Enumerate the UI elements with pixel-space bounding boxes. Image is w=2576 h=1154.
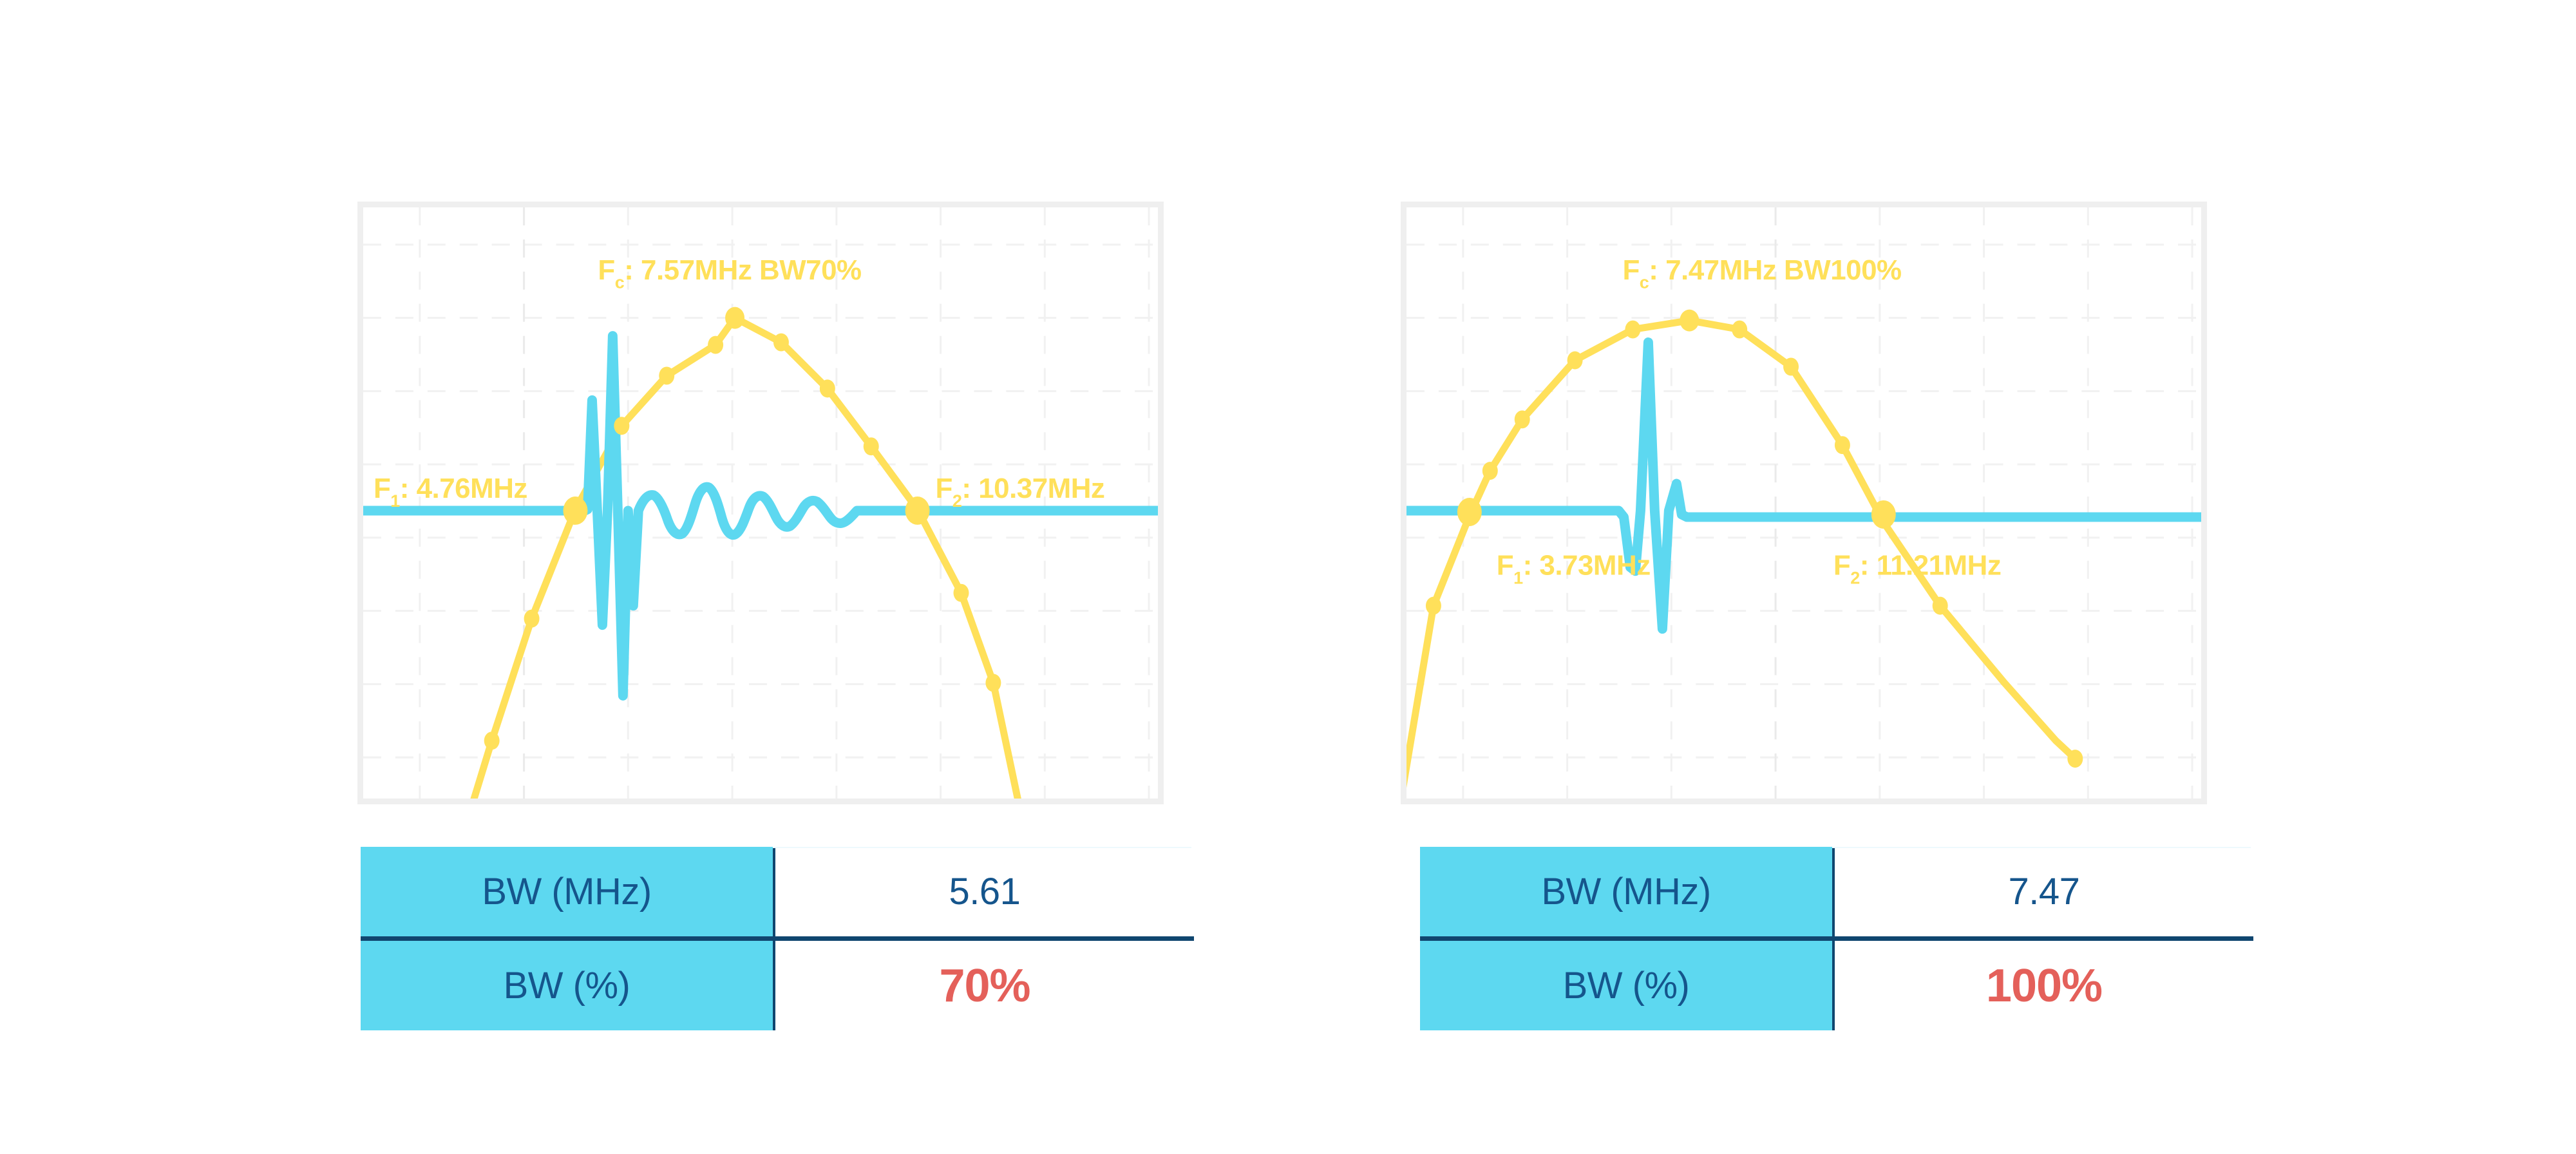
marker-f2-left [905,497,930,525]
bw-pct-value-right: 100% [1833,939,2253,1031]
ann-f1-left-prefix: F [374,473,390,504]
plot-frame-right: Fc: 7.47MHz BW100% F1: 3.73MHz F2: 11.21… [1401,202,2207,804]
annotation-f2-right-text: F2: 11.21MHz [1833,550,2001,588]
panel-right: Fc: 7.47MHz BW100% F1: 3.73MHz F2: 11.21… [1401,202,2207,804]
rf-pulse-left [363,336,1158,696]
annotation-fc-left: Fc: 7.57MHz BW70% [598,254,861,292]
ann-f1-right-rest: : 3.73MHz [1523,550,1651,582]
annotation-f1-right-text: F1: 3.73MHz [1497,550,1651,588]
ann-fc-left-sub: c [615,273,625,292]
ann-f2-right-rest: : 11.21MHz [1860,550,2002,582]
ann-fc-left-rest: : 7.57MHz BW70% [624,254,861,286]
bw-pct-label-right: BW (%) [1420,939,1833,1031]
marker-f1-right [1457,498,1482,526]
marker-f1-left [563,497,587,525]
bw-mhz-value-left: 5.61 [774,847,1194,939]
spectrum-line-left [459,318,1019,799]
ann-fc-right-prefix: F [1622,254,1639,286]
table-row: BW (%) 70% [361,939,1194,1031]
annotation-fc-right: Fc: 7.47MHz BW100% [1622,254,1901,292]
bw-mhz-label-right: BW (MHz) [1420,847,1833,939]
ann-f1-right-sub: 1 [1513,569,1523,588]
ann-f1-left-rest: : 4.76MHz [400,473,527,504]
annotation-f2-left: F2: 10.37MHz [936,473,1105,511]
table-row: BW (%) 100% [1420,939,2253,1031]
figure-stage: Fc: 7.57MHz BW70% F1: 4.76MHz F2: 10.37M… [0,0,2576,1154]
annotation-f2-right: F2: 11.21MHz [1833,550,2001,588]
annotation-f2-left-text: F2: 10.37MHz [936,473,1105,511]
plot-frame-left: Fc: 7.57MHz BW70% F1: 4.76MHz F2: 10.37M… [357,202,1164,804]
spectrum-chart-right: Fc: 7.47MHz BW100% F1: 3.73MHz F2: 11.21… [1406,207,2201,799]
annotation-fc-left-text: Fc: 7.57MHz BW70% [598,254,861,292]
grid-lines-right [1406,207,2201,799]
ann-f1-right-prefix: F [1497,550,1513,582]
bw-table-right-wrap: BW (MHz) 7.47 BW (%) 100% [1420,847,2253,1030]
ann-fc-left-prefix: F [598,254,614,286]
table-row: BW (MHz) 7.47 [1420,847,2253,939]
annotation-f1-left: F1: 4.76MHz [374,473,527,511]
bw-table-left: BW (MHz) 5.61 BW (%) 70% [361,847,1194,1030]
panel-left: Fc: 7.57MHz BW70% F1: 4.76MHz F2: 10.37M… [357,202,1164,804]
ann-f2-left-sub: 2 [952,491,961,511]
bw-mhz-value-right: 7.47 [1833,847,2253,939]
ann-f2-right-prefix: F [1833,550,1850,582]
annotation-f1-right: F1: 3.73MHz [1497,550,1651,588]
annotation-f1-left-text: F1: 4.76MHz [374,473,527,511]
ann-fc-right-rest: : 7.47MHz BW100% [1649,254,1901,286]
ann-f2-left-rest: : 10.37MHz [961,473,1104,504]
marker-f2-right [1871,500,1896,529]
bw-pct-label-left: BW (%) [361,939,774,1031]
ann-f1-left-sub: 1 [390,491,400,511]
table-row: BW (MHz) 5.61 [361,847,1194,939]
annotation-fc-right-text: Fc: 7.47MHz BW100% [1622,254,1901,292]
ann-f2-right-sub: 2 [1850,569,1859,588]
ann-fc-right-sub: c [1640,273,1649,292]
bw-mhz-label-left: BW (MHz) [361,847,774,939]
bw-table-right: BW (MHz) 7.47 BW (%) 100% [1420,847,2253,1030]
spectrum-chart-left: Fc: 7.57MHz BW70% F1: 4.76MHz F2: 10.37M… [363,207,1158,799]
marker-fc-right [1680,310,1699,332]
ann-f2-left-prefix: F [936,473,952,504]
marker-fc-left [725,307,744,329]
bw-pct-value-left: 70% [774,939,1194,1031]
bw-table-left-wrap: BW (MHz) 5.61 BW (%) 70% [361,847,1194,1030]
